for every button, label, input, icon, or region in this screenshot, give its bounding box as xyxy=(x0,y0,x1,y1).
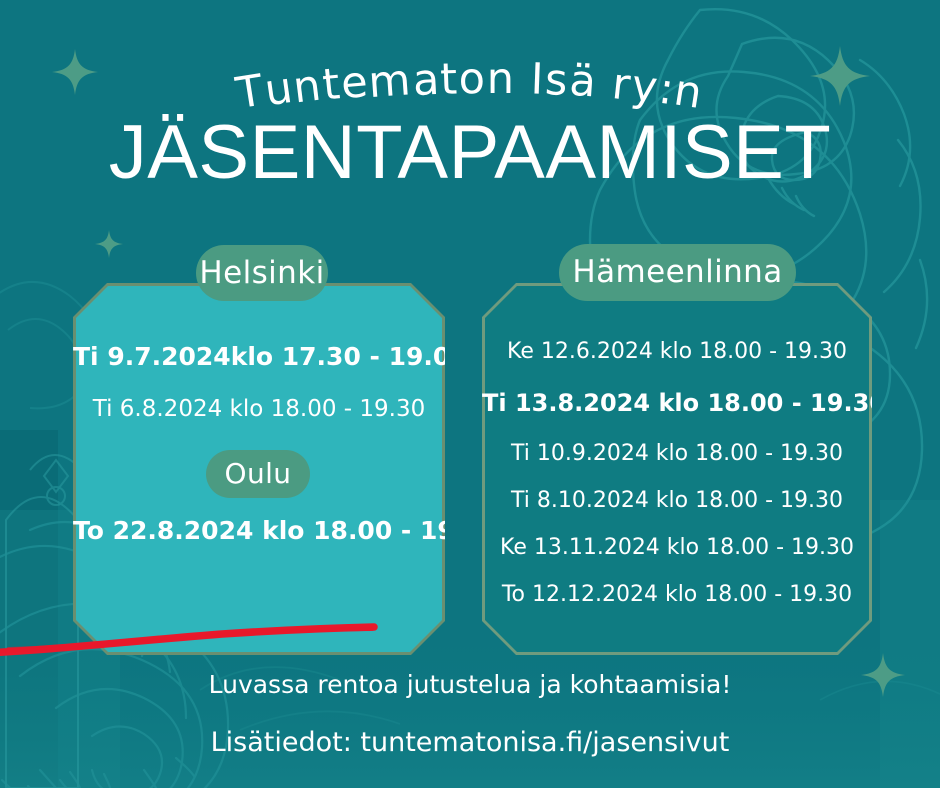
page-title: JÄSENTAPAAMISET xyxy=(0,101,940,193)
script-subtitle-char: a xyxy=(411,59,441,103)
event-row: Ti 8.10.2024 klo 18.00 - 19.30 xyxy=(482,490,872,512)
script-subtitle-char: e xyxy=(339,61,370,106)
card-hameenlinna: Ke 12.6.2024 klo 18.00 - 19.30 Ti 13.8.2… xyxy=(482,283,872,655)
event-row: Ti 9.7.2024klo 17.30 - 19.00 xyxy=(73,344,445,369)
script-subtitle-char: I xyxy=(530,58,545,101)
footer-link[interactable]: Lisätiedot: tuntematonisa.fi/jasensivut xyxy=(0,727,940,758)
card-hameenlinna-body: Ke 12.6.2024 klo 18.00 - 19.30 Ti 13.8.2… xyxy=(482,283,872,655)
pill-oulu: Oulu xyxy=(206,450,310,498)
script-subtitle-char: m xyxy=(368,59,414,105)
poster-header: Tuntematon Isä ry:n JÄSENTAPAAMISET xyxy=(0,0,940,193)
script-subtitle-text: Tuntematon Isä ry:n xyxy=(240,58,699,101)
poster-root: Tuntematon Isä ry:n JÄSENTAPAAMISET Ti 9… xyxy=(0,0,940,788)
event-row: Ti 6.8.2024 klo 18.00 - 19.30 xyxy=(73,398,445,421)
script-subtitle-char: s xyxy=(544,59,570,103)
event-row: To 22.8.2024 klo 18.00 - 19.30 xyxy=(73,518,445,543)
script-subtitle: Tuntematon Isä ry:n xyxy=(0,0,940,101)
script-subtitle-char: t xyxy=(440,58,460,102)
pill-hameenlinna-label: Hämeenlinna xyxy=(572,257,782,288)
pill-hameenlinna: Hämeenlinna xyxy=(559,244,796,301)
footer-tagline: Luvassa rentoa jutustelua ja kohtaamisia… xyxy=(0,670,940,699)
four-point-sparkle-icon xyxy=(95,230,123,258)
script-subtitle-char xyxy=(515,58,531,101)
script-subtitle-char: ä xyxy=(568,60,598,105)
pill-helsinki: Helsinki xyxy=(196,245,328,301)
event-row: Ti 10.9.2024 klo 18.00 - 19.30 xyxy=(482,443,872,465)
event-row-cancelled: Ke 12.6.2024 klo 18.00 - 19.30 xyxy=(482,341,872,363)
event-row: To 12.12.2024 klo 18.00 - 19.30 xyxy=(482,584,872,606)
script-subtitle-char: o xyxy=(458,58,486,101)
script-subtitle-char: n xyxy=(291,64,324,110)
pill-helsinki-label: Helsinki xyxy=(199,258,324,289)
event-row: Ti 13.8.2024 klo 18.00 - 19.30 xyxy=(482,391,872,415)
pill-oulu-label: Oulu xyxy=(225,460,292,488)
event-row: Ke 13.11.2024 klo 18.00 - 19.30 xyxy=(482,537,872,559)
script-subtitle-char: n xyxy=(487,58,515,101)
